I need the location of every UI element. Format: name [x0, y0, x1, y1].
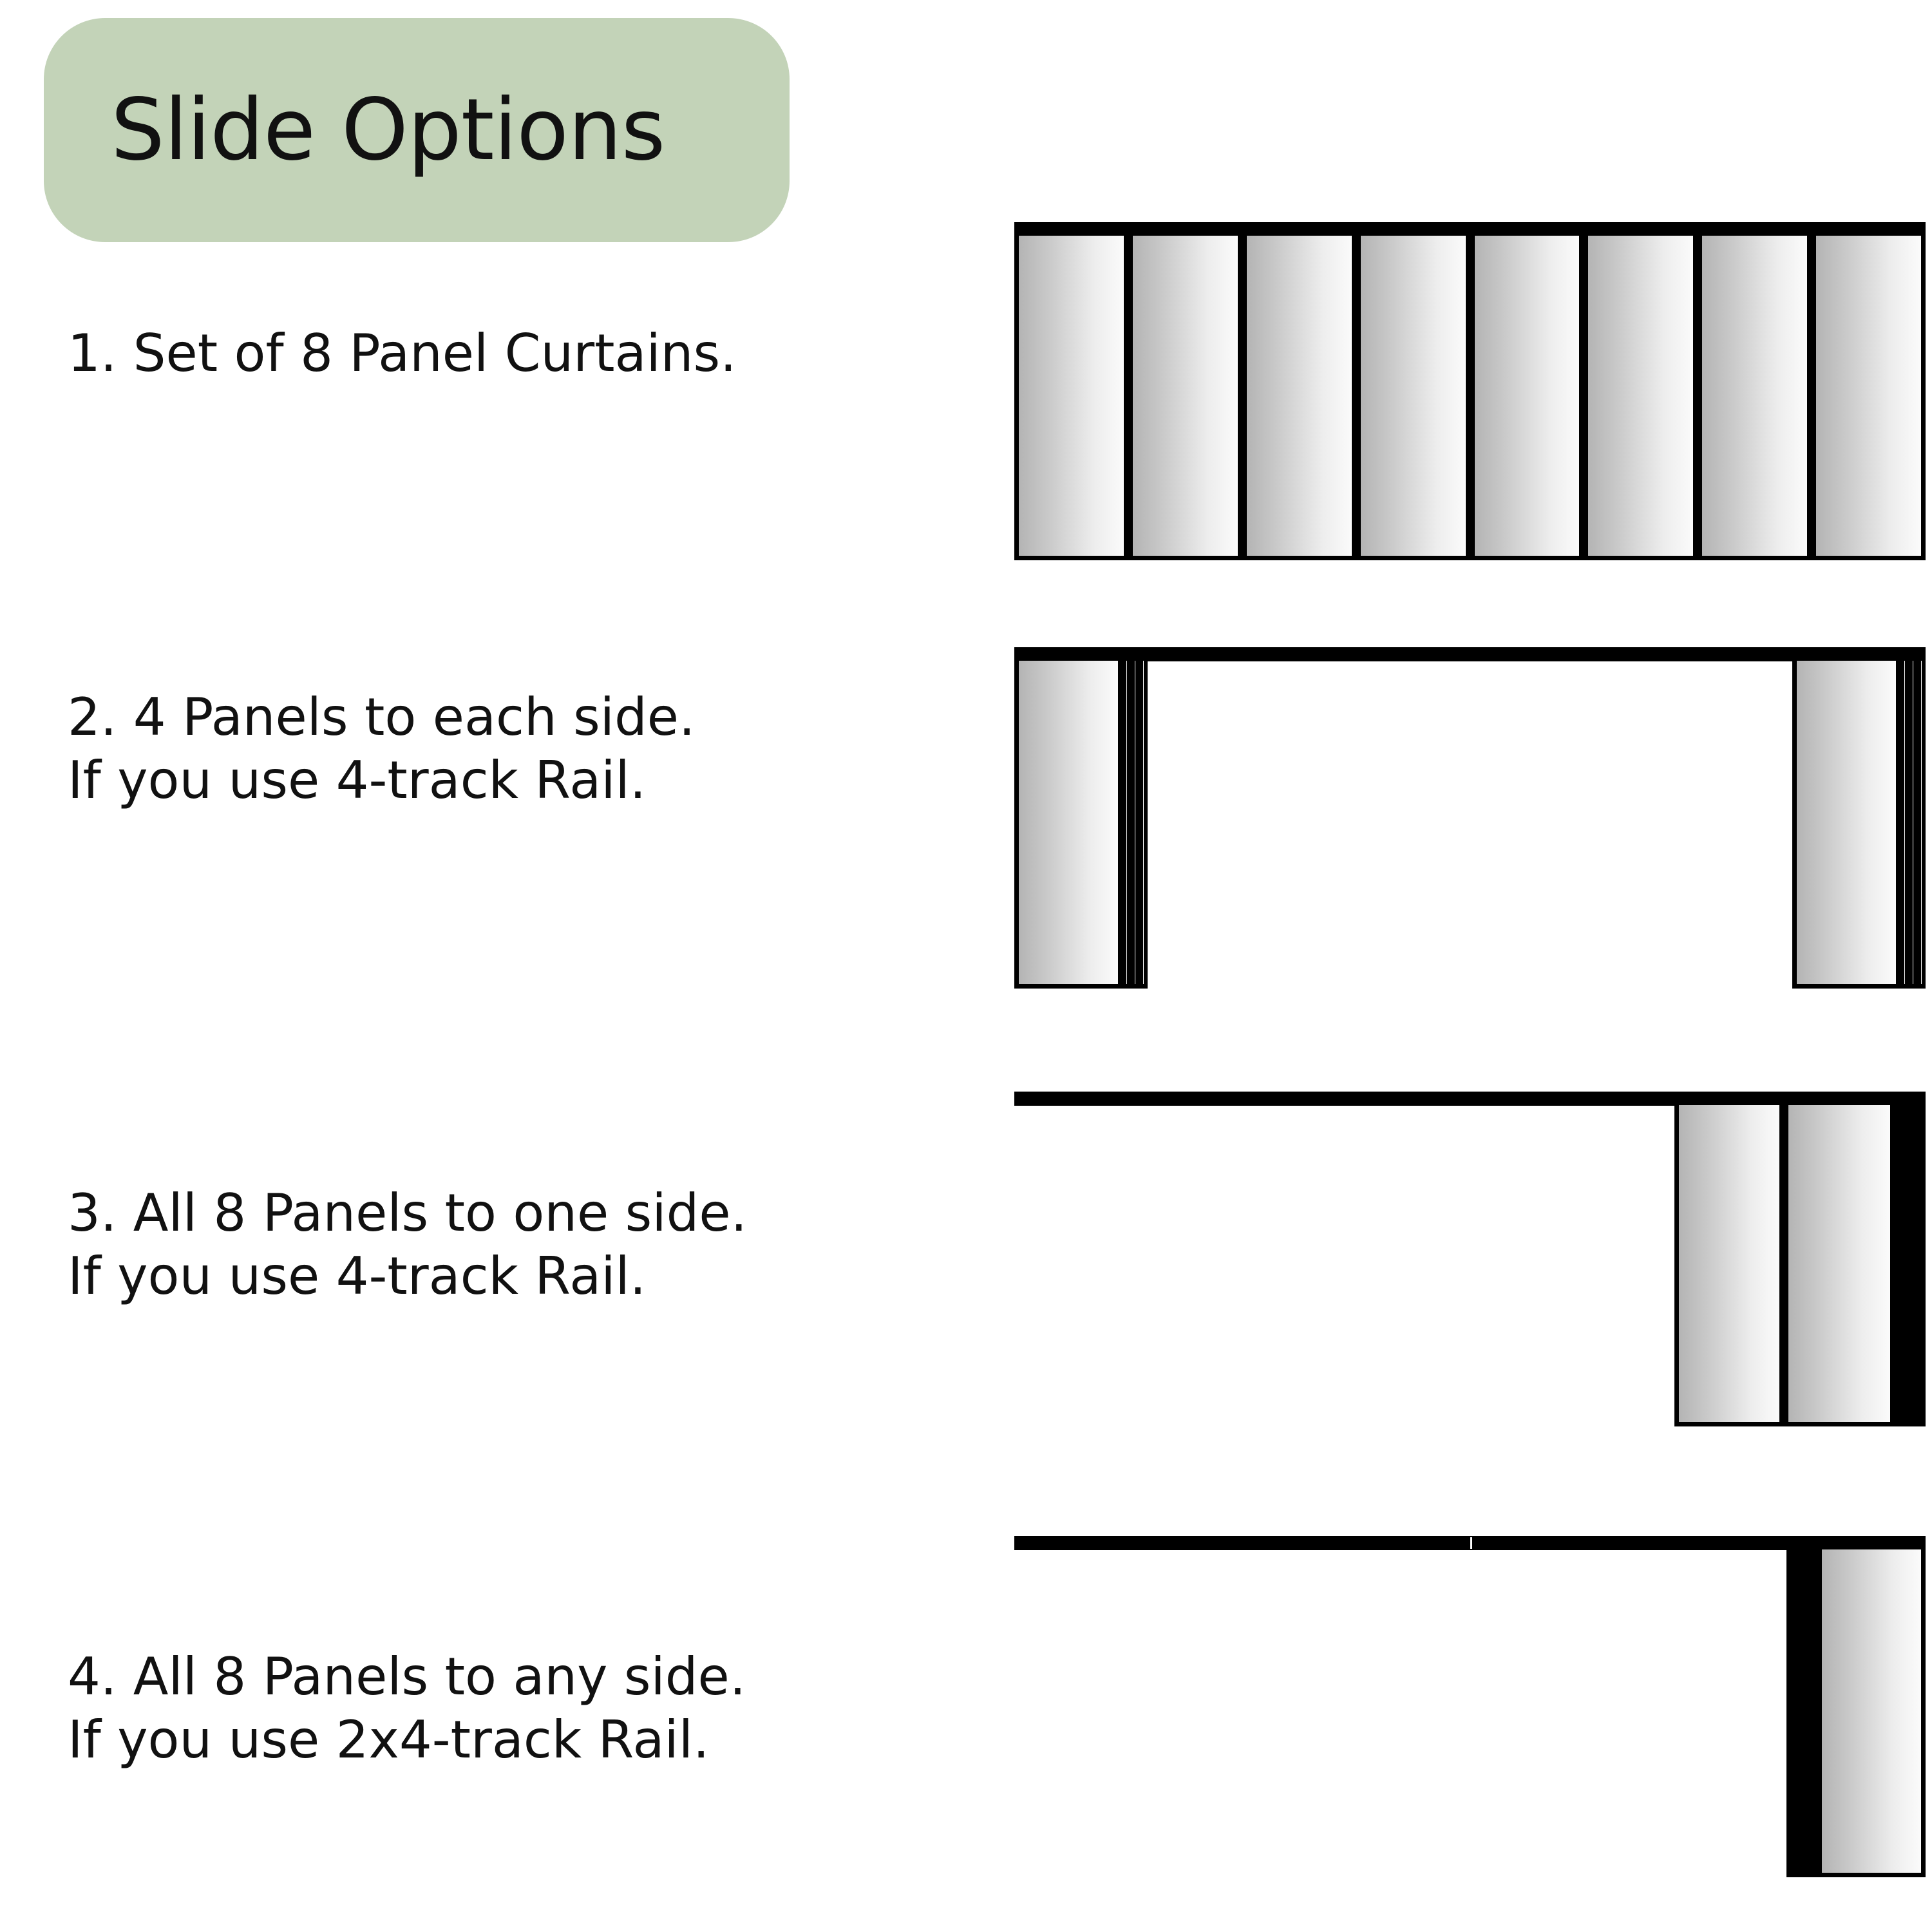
- curtain-panel-edge: [1139, 656, 1148, 989]
- curtain-panel: [1470, 231, 1584, 560]
- curtain-panel-edge: [1918, 1101, 1926, 1426]
- curtain-panel-edge: [1794, 1545, 1802, 1877]
- option-1-line-1: 1. Set of 8 Panel Curtains.: [68, 322, 969, 385]
- panel-stack-right: [1786, 1545, 1926, 1877]
- option-3-line-2: If you use 4-track Rail.: [68, 1245, 969, 1308]
- curtain-panel-edge: [1895, 1101, 1902, 1426]
- curtain-panel-edge: [1802, 1545, 1810, 1877]
- curtain-panel: [1128, 231, 1242, 560]
- curtain-panel-edge: [1900, 656, 1909, 989]
- curtain-panel: [1674, 1101, 1784, 1426]
- panel-stack-right: [1674, 1101, 1926, 1426]
- option-1-text: 1. Set of 8 Panel Curtains.: [68, 322, 969, 385]
- diagram-option-4: [1014, 1536, 1926, 1877]
- panel-stack-spread: [1014, 231, 1926, 560]
- option-4-line-1: 4. All 8 Panels to any side.: [68, 1645, 969, 1709]
- curtain-panel: [1698, 231, 1812, 560]
- page-title-badge: Slide Options: [44, 18, 790, 242]
- curtain-panel-edge: [1122, 656, 1131, 989]
- curtain-panel-edge: [1910, 1101, 1918, 1426]
- option-4-text: 4. All 8 Panels to any side. If you use …: [68, 1645, 969, 1771]
- rail-gap: [1148, 656, 1792, 989]
- curtain-panel-edge: [1810, 1545, 1817, 1877]
- curtain-panel-edge: [1786, 1545, 1794, 1877]
- diagram-option-2: [1014, 647, 1926, 989]
- panel-stack-right: [1792, 656, 1926, 989]
- curtain-panel: [1792, 656, 1900, 989]
- option-4-line-2: If you use 2x4-track Rail.: [68, 1709, 969, 1772]
- option-3-line-1: 3. All 8 Panels to one side.: [68, 1182, 969, 1245]
- panel-row: [1014, 1101, 1926, 1426]
- option-2-line-2: If you use 4-track Rail.: [68, 749, 969, 812]
- curtain-panel-edge: [1902, 1101, 1910, 1426]
- panel-row: [1014, 656, 1926, 989]
- curtain-panel: [1784, 1101, 1895, 1426]
- option-2-text: 2. 4 Panels to each side. If you use 4-t…: [68, 686, 969, 811]
- page-title: Slide Options: [44, 88, 665, 173]
- curtain-panel-edge: [1131, 656, 1139, 989]
- panel-stack-left: [1014, 656, 1148, 989]
- diagram-option-3: [1014, 1092, 1926, 1426]
- curtain-panel: [1812, 231, 1926, 560]
- curtain-panel: [1356, 231, 1470, 560]
- diagram-option-1: [1014, 222, 1926, 560]
- panel-row: [1014, 231, 1926, 560]
- curtain-panel: [1584, 231, 1698, 560]
- option-2-line-1: 2. 4 Panels to each side.: [68, 686, 969, 749]
- curtain-panel: [1242, 231, 1356, 560]
- curtain-panel: [1817, 1545, 1926, 1877]
- curtain-panel-edge: [1909, 656, 1917, 989]
- panel-row: [1014, 1545, 1926, 1877]
- option-3-text: 3. All 8 Panels to one side. If you use …: [68, 1182, 969, 1307]
- curtain-panel-edge: [1917, 656, 1926, 989]
- curtain-panel: [1014, 656, 1122, 989]
- curtain-panel: [1014, 231, 1128, 560]
